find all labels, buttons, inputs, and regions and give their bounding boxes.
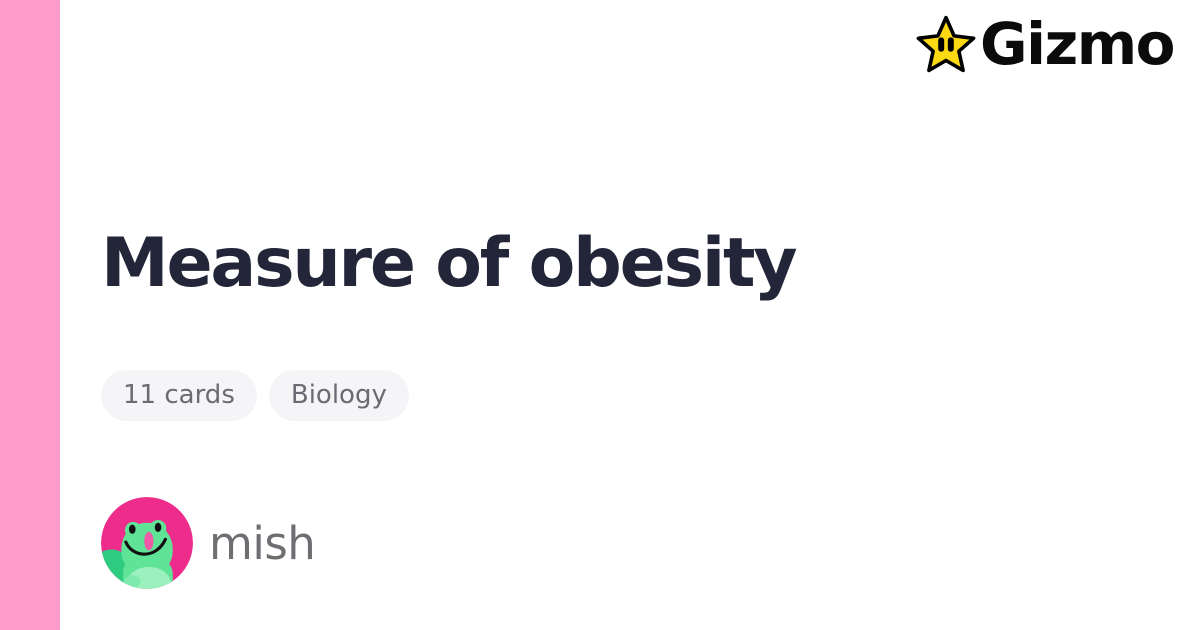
left-accent-stripe (0, 0, 60, 630)
author-name: mish (209, 521, 315, 566)
main-content: Measure of obesity 11 cards Biology (101, 0, 1101, 630)
badge-row: 11 cards Biology (101, 370, 409, 421)
status-badge-subject: Biology (269, 370, 409, 421)
status-badge-card-count: 11 cards (101, 370, 257, 421)
page-title: Measure of obesity (101, 228, 795, 299)
author-row[interactable]: mish (101, 497, 315, 589)
frog-avatar-icon (101, 497, 193, 589)
